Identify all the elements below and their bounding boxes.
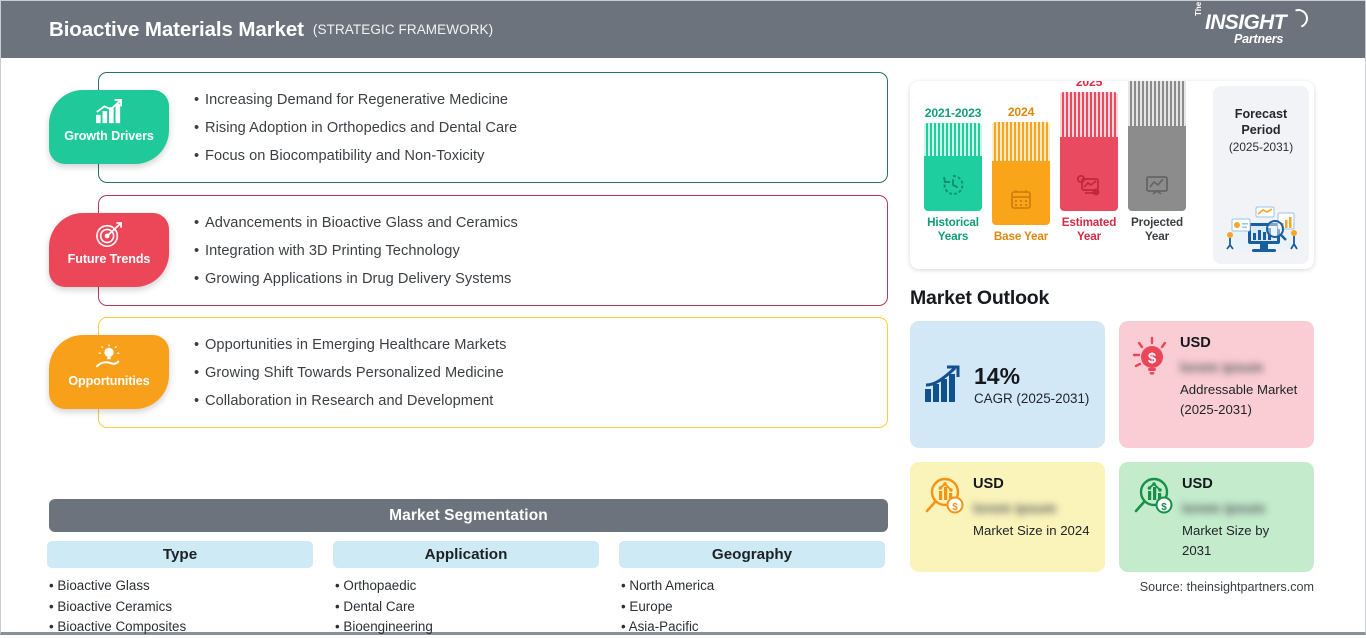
lightbulb-dollar-icon: $ bbox=[1131, 334, 1171, 380]
svg-text:$: $ bbox=[1148, 350, 1157, 367]
bar-stripe-overlay bbox=[1060, 92, 1118, 137]
bar-body bbox=[924, 123, 982, 211]
card-description: Addressable Market (2025-2031) bbox=[1180, 380, 1302, 419]
logo-partners-text: Partners bbox=[1234, 32, 1283, 46]
segmentation-column-application: Application Orthopaedic Dental Care Bioe… bbox=[333, 541, 599, 638]
bar-caption: Historical Years bbox=[924, 216, 982, 243]
currency-label: USD bbox=[973, 475, 1093, 493]
card-description: Market Size in 2024 bbox=[973, 521, 1093, 541]
market-outlook-cards: 14% CAGR (2025-2031) $ bbox=[910, 321, 1330, 572]
list-item: Bioengineering bbox=[335, 617, 599, 638]
segmentation-header-geography: Geography bbox=[619, 541, 885, 568]
page-title: Bioactive Materials Market bbox=[49, 18, 304, 42]
blurred-value: lorem ipsum bbox=[1182, 500, 1302, 516]
target-dart-icon bbox=[94, 222, 124, 248]
list-item: North America bbox=[621, 576, 885, 597]
badge-label: Future Trends bbox=[68, 252, 151, 266]
column-header-label: Geography bbox=[712, 546, 792, 563]
timeline-card: 2021-2023 Historical Years 2024 bbox=[910, 81, 1314, 269]
factor-box-future-trends: Advancements in Bioactive Glass and Cera… bbox=[98, 195, 888, 306]
timeline-bar-estimated: 2025 Estimated Year bbox=[1060, 81, 1118, 243]
factor-box-opportunities: Opportunities in Emerging Healthcare Mar… bbox=[98, 317, 888, 428]
outlook-card-addressable-market[interactable]: $ USD lorem ipsum Addressable Market (20… bbox=[1119, 321, 1314, 448]
market-size-2031-text-block: USD lorem ipsum Market Size by 2031 bbox=[1182, 475, 1302, 560]
clock-history-icon bbox=[941, 173, 965, 197]
timeline-bars-area: 2021-2023 Historical Years 2024 bbox=[910, 81, 1213, 269]
infographic-page: Bioactive Materials Market (STRATEGIC FR… bbox=[0, 0, 1366, 635]
bullet-item: Collaboration in Research and Developmen… bbox=[194, 387, 887, 415]
forecast-period-panel: Forecast Period (2025-2031) bbox=[1213, 86, 1309, 264]
timeline-bar-projected: 2031 Projected Year bbox=[1128, 81, 1186, 243]
forecast-years: (2025-2031) bbox=[1213, 140, 1309, 154]
badge-label: Growth Drivers bbox=[64, 129, 154, 143]
bar-year-label: 2025 bbox=[1060, 81, 1118, 89]
bullet-item: Growing Shift Towards Personalized Medic… bbox=[194, 359, 887, 387]
segmentation-column-type: Type Bioactive Glass Bioactive Ceramics … bbox=[47, 541, 313, 638]
badge-growth-drivers[interactable]: Growth Drivers bbox=[49, 90, 169, 164]
bullet-item: Opportunities in Emerging Healthcare Mar… bbox=[194, 331, 887, 359]
logo-the-text: The bbox=[1194, 2, 1203, 16]
page-header: Bioactive Materials Market (STRATEGIC FR… bbox=[1, 1, 1365, 58]
logo-swoosh-icon bbox=[1286, 6, 1311, 31]
segmentation-columns: Type Bioactive Glass Bioactive Ceramics … bbox=[47, 541, 901, 638]
monitor-chart-icon bbox=[1144, 173, 1170, 197]
blurred-value: lorem ipsum bbox=[973, 500, 1093, 516]
bar-stripe-overlay bbox=[1128, 81, 1186, 126]
insight-partners-logo: The INSIGHT Partners bbox=[1194, 9, 1310, 51]
outlook-card-cagr[interactable]: 14% CAGR (2025-2031) bbox=[910, 321, 1105, 448]
column-header-label: Type bbox=[163, 546, 197, 563]
bar-stripe-overlay bbox=[924, 123, 982, 156]
source-attribution: Source: theinsightpartners.com bbox=[910, 580, 1314, 594]
segmentation-header-type: Type bbox=[47, 541, 313, 568]
factor-row-growth-drivers: Increasing Demand for Regenerative Medic… bbox=[1, 72, 901, 183]
segmentation-list-geography: North America Europe Asia-Pacific bbox=[619, 576, 885, 638]
bar-stripe-overlay bbox=[992, 122, 1050, 161]
timeline-bar-base: 2024 bbox=[992, 105, 1050, 244]
segmentation-header-application: Application bbox=[333, 541, 599, 568]
bar-caption: Base Year bbox=[992, 230, 1050, 244]
blurred-value: lorem ipsum bbox=[1180, 359, 1302, 375]
lightbulb-hand-icon bbox=[94, 344, 124, 370]
timeline-bar-historical: 2021-2023 Historical Years bbox=[924, 106, 982, 243]
bullet-item: Advancements in Bioactive Glass and Cera… bbox=[194, 209, 887, 237]
segmentation-title-bar: Market Segmentation bbox=[49, 499, 888, 532]
bullet-item: Integration with 3D Printing Technology bbox=[194, 237, 887, 265]
bar-caption: Projected Year bbox=[1128, 216, 1186, 243]
outlook-card-market-size-2024[interactable]: $ USD lorem ipsum Market Size in 2024 bbox=[910, 462, 1105, 572]
bar-body bbox=[1060, 92, 1118, 211]
outlook-card-market-size-2031[interactable]: $ USD lorem ipsum Market Size by 2031 bbox=[1119, 462, 1314, 572]
badge-opportunities[interactable]: Opportunities bbox=[49, 335, 169, 409]
bar-year-label: 2021-2023 bbox=[924, 106, 982, 120]
market-segmentation-section: Market Segmentation Type Bioactive Glass… bbox=[1, 499, 901, 638]
svg-text:$: $ bbox=[952, 502, 958, 513]
forecast-chart-icon bbox=[1076, 173, 1102, 197]
list-item: Dental Care bbox=[335, 597, 599, 618]
list-item: Bioactive Composites bbox=[49, 617, 313, 638]
bar-chart-growth-icon bbox=[94, 99, 124, 125]
bar-body bbox=[1128, 81, 1186, 211]
factor-row-opportunities: Opportunities in Emerging Healthcare Mar… bbox=[1, 317, 901, 428]
column-header-label: Application bbox=[425, 546, 508, 563]
cagr-label: CAGR (2025-2031) bbox=[974, 391, 1093, 406]
list-item: Asia-Pacific bbox=[621, 617, 885, 638]
left-column: Increasing Demand for Regenerative Medic… bbox=[1, 58, 901, 428]
addressable-text-block: USD lorem ipsum Addressable Market (2025… bbox=[1180, 334, 1302, 419]
segmentation-column-geography: Geography North America Europe Asia-Paci… bbox=[619, 541, 885, 638]
list-item: Bioactive Ceramics bbox=[49, 597, 313, 618]
bullet-item: Growing Applications in Drug Delivery Sy… bbox=[194, 265, 887, 293]
market-size-2024-text-block: USD lorem ipsum Market Size in 2024 bbox=[973, 475, 1093, 541]
calendar-icon bbox=[1009, 187, 1033, 211]
bullet-item: Rising Adoption in Orthopedics and Denta… bbox=[194, 114, 887, 142]
bullet-item: Increasing Demand for Regenerative Medic… bbox=[194, 86, 887, 114]
badge-future-trends[interactable]: Future Trends bbox=[49, 213, 169, 287]
right-column: 2021-2023 Historical Years 2024 bbox=[910, 81, 1330, 594]
magnifier-chart-dollar-icon: $ bbox=[922, 475, 964, 517]
forecast-title-line1: Forecast bbox=[1213, 106, 1309, 122]
factor-row-future-trends: Advancements in Bioactive Glass and Cera… bbox=[1, 195, 901, 306]
cagr-text-block: 14% CAGR (2025-2031) bbox=[974, 364, 1093, 406]
card-description: Market Size by 2031 bbox=[1182, 521, 1302, 560]
timeline-bars-row: 2021-2023 Historical Years 2024 bbox=[924, 81, 1186, 243]
bar-chart-arrow-icon bbox=[922, 365, 965, 405]
forecast-title-line2: Period bbox=[1213, 122, 1309, 138]
list-item: Bioactive Glass bbox=[49, 576, 313, 597]
currency-label: USD bbox=[1182, 475, 1302, 493]
badge-label: Opportunities bbox=[68, 374, 149, 388]
list-item: Orthopaedic bbox=[335, 576, 599, 597]
segmentation-title: Market Segmentation bbox=[389, 507, 548, 525]
bar-body bbox=[992, 122, 1050, 225]
bullet-item: Focus on Biocompatibility and Non-Toxici… bbox=[194, 142, 887, 170]
svg-text:$: $ bbox=[1161, 502, 1167, 513]
market-outlook-title: Market Outlook bbox=[910, 287, 1330, 310]
factor-box-growth-drivers: Increasing Demand for Regenerative Medic… bbox=[98, 72, 888, 183]
cagr-value: 14% bbox=[974, 364, 1093, 389]
currency-label: USD bbox=[1180, 334, 1302, 352]
segmentation-list-application: Orthopaedic Dental Care Bioengineering bbox=[333, 576, 599, 638]
list-item: Europe bbox=[621, 597, 885, 618]
analytics-illustration-icon bbox=[1218, 199, 1304, 257]
bar-year-label: 2024 bbox=[992, 105, 1050, 119]
magnifier-chart-dollar-icon: $ bbox=[1131, 475, 1173, 517]
bar-caption: Estimated Year bbox=[1060, 216, 1118, 243]
segmentation-list-type: Bioactive Glass Bioactive Ceramics Bioac… bbox=[47, 576, 313, 638]
page-subtitle: (STRATEGIC FRAMEWORK) bbox=[313, 22, 493, 37]
